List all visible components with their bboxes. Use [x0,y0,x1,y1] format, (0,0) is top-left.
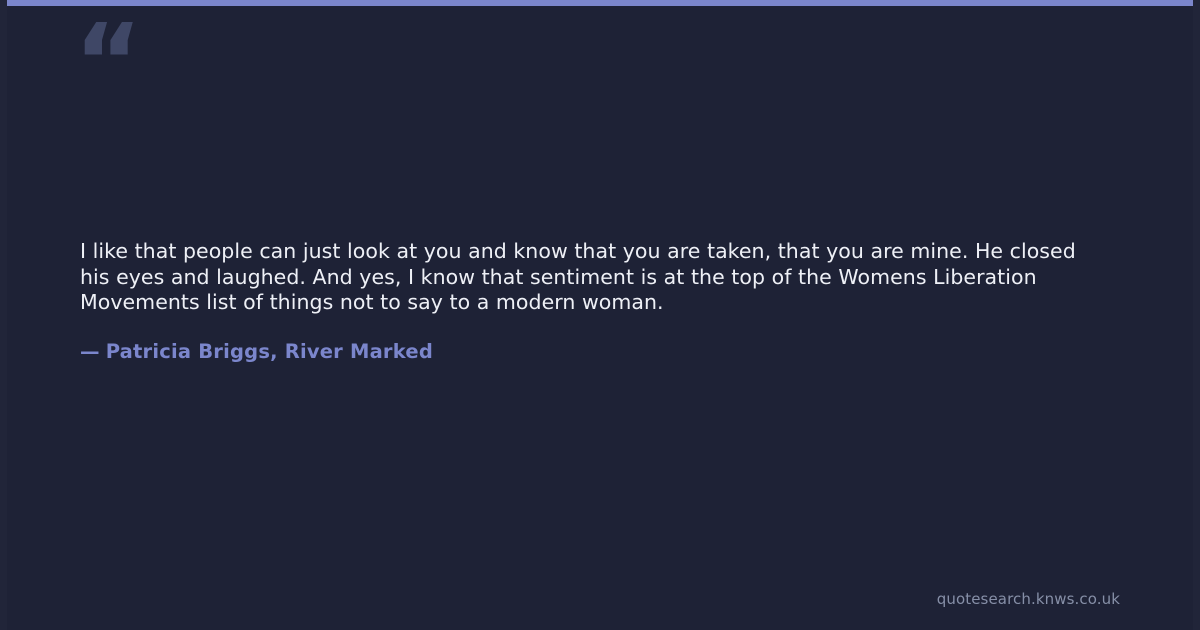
quote-attribution: —Patricia Briggs, River Marked [80,340,433,363]
quote-body: I like that people can just look at you … [80,239,1110,316]
attribution-dash: — [80,340,100,363]
top-accent-bar [0,0,1200,6]
quote-text: I like that people can just look at you … [80,239,1110,316]
source-url-label: quotesearch.knws.co.uk [937,590,1120,608]
attribution-label: Patricia Briggs, River Marked [106,340,433,363]
quote-card: “ I like that people can just look at yo… [0,0,1200,630]
opening-quotation-mark-icon: “ [74,10,140,114]
